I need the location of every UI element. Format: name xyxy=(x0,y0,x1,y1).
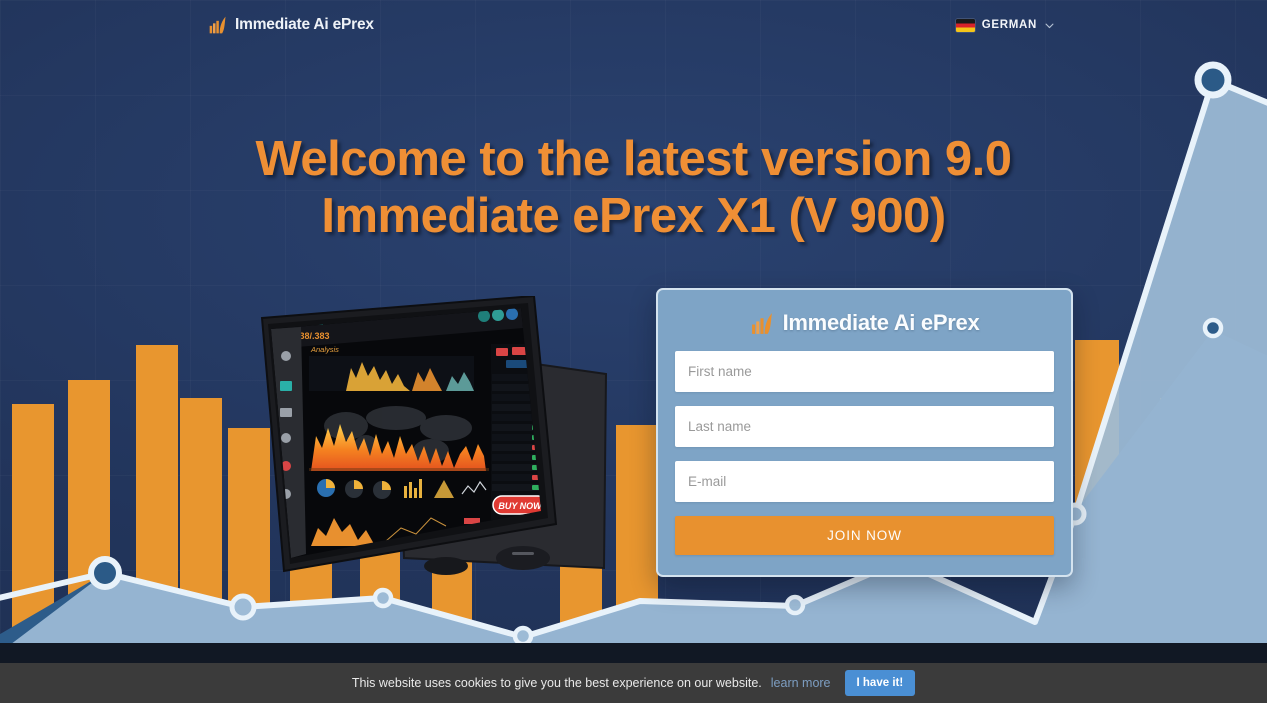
cookie-consent-bar: This website uses cookies to give you th… xyxy=(0,663,1267,703)
cookie-divider-strip xyxy=(0,643,1267,663)
cookie-learn-more-link[interactable]: learn more xyxy=(771,676,831,690)
cookie-message: This website uses cookies to give you th… xyxy=(352,676,762,690)
email-input[interactable] xyxy=(675,461,1054,502)
language-label: GERMAN xyxy=(982,19,1037,31)
signup-panel: Immediate Ai ePrex JOIN NOW xyxy=(656,288,1073,577)
german-flag-icon xyxy=(956,19,975,32)
first-name-input[interactable] xyxy=(675,351,1054,392)
bar-chart-flame-icon xyxy=(208,15,228,35)
brand-name: Immediate Ai ePrex xyxy=(235,16,374,34)
language-selector[interactable]: GERMAN xyxy=(952,15,1059,36)
headline-line-1: Welcome to the latest version 9.0 xyxy=(256,132,1012,186)
svg-text:Analysis: Analysis xyxy=(310,345,339,354)
hero-headline: Welcome to the latest version 9.0 Immedi… xyxy=(0,131,1267,245)
brand-logo[interactable]: Immediate Ai ePrex xyxy=(208,15,374,35)
landing-page: 1.38/.383 $ Analysis xyxy=(0,0,1267,703)
chevron-down-icon xyxy=(1044,20,1055,31)
headline-line-2: Immediate ePrex X1 (V 900) xyxy=(120,188,1147,245)
tablet-device-image: 1.38/.383 $ Analysis xyxy=(196,296,626,586)
bar-chart-flame-icon xyxy=(750,311,775,336)
last-name-input[interactable] xyxy=(675,406,1054,447)
site-header: Immediate Ai ePrex GERMAN xyxy=(0,0,1267,50)
background-chart-illustration xyxy=(0,0,1267,703)
buy-now-button-on-screen: BUY NOW xyxy=(493,496,547,514)
join-now-button[interactable]: JOIN NOW xyxy=(675,516,1054,555)
cookie-accept-button[interactable]: I have it! xyxy=(845,670,916,696)
signup-brand: Immediate Ai ePrex xyxy=(675,310,1054,336)
svg-text:BUY NOW: BUY NOW xyxy=(498,501,543,511)
signup-brand-name: Immediate Ai ePrex xyxy=(783,310,980,336)
